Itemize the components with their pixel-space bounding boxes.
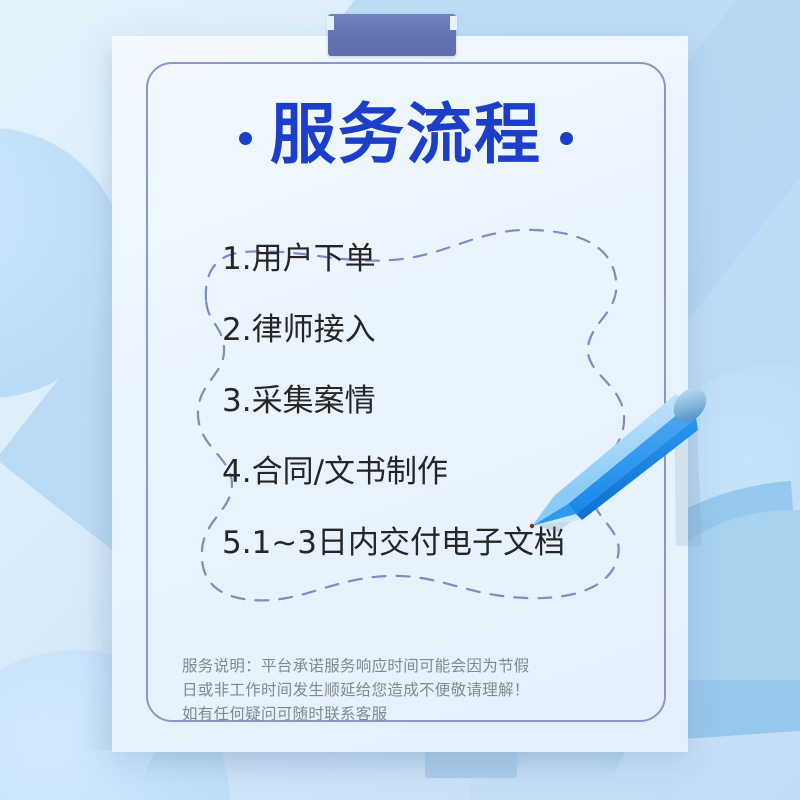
- list-item-step-3: 3.采集案情: [222, 386, 652, 417]
- service-note-line-1: 服务说明：平台承诺服务响应时间可能会因为节假: [182, 654, 632, 678]
- service-process-poster: 服务流程 1.用户下单 2.律师接入 3.采集案情 4.合同/文书制作 5.1~…: [0, 0, 800, 800]
- bullet-dot-icon-left: [239, 132, 252, 145]
- service-note-line-2: 日或非工作时间发生顺延给您造成不便敬请理解！: [182, 678, 632, 702]
- tape-strip-icon: [328, 14, 456, 56]
- list-item-step-4: 4.合同/文书制作: [222, 457, 652, 488]
- list-item-step-1: 1.用户下单: [222, 244, 652, 275]
- paper-tab-shape: [425, 752, 517, 778]
- poster-content: 服务流程 1.用户下单 2.律师接入 3.采集案情 4.合同/文书制作 5.1~…: [146, 62, 666, 722]
- list-item-step-2: 2.律师接入: [222, 315, 652, 346]
- service-note: 服务说明：平台承诺服务响应时间可能会因为节假 日或非工作时间发生顺延给您造成不便…: [182, 654, 632, 727]
- service-note-line-3: 如有任何疑问可随时联系客服: [182, 702, 632, 726]
- list-item-step-5: 5.1~3日内交付电子文档: [222, 528, 652, 559]
- page-title: 服务流程: [146, 102, 666, 168]
- page-title-text: 服务流程: [270, 102, 542, 168]
- steps-list: 1.用户下单 2.律师接入 3.采集案情 4.合同/文书制作 5.1~3日内交付…: [222, 244, 652, 559]
- bullet-dot-icon-right: [560, 132, 573, 145]
